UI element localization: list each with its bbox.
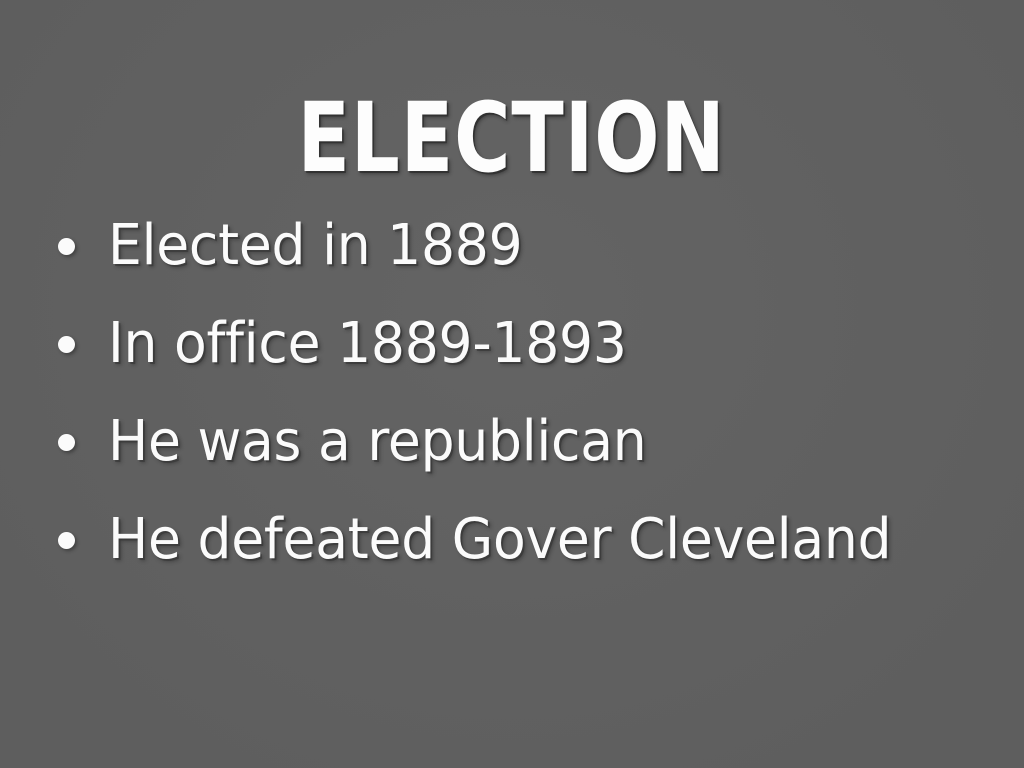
bullet-list: Elected in 1889 In office 1889-1893 He w… — [48, 197, 1008, 589]
list-item-label: He defeated Gover Cleveland — [108, 511, 968, 569]
list-item-label: In office 1889-1893 — [108, 315, 968, 373]
bullet-dot-icon — [58, 238, 75, 255]
presentation-slide: ELECTION Elected in 1889 In office 1889-… — [0, 0, 1024, 768]
bullet-dot-icon — [58, 532, 75, 549]
page-title: ELECTION — [298, 90, 726, 186]
list-item-label: He was a republican — [108, 413, 968, 471]
list-item: He defeated Gover Cleveland — [48, 491, 1008, 589]
list-item: In office 1889-1893 — [48, 295, 1008, 393]
list-item: He was a republican — [48, 393, 1008, 491]
list-item: Elected in 1889 — [48, 197, 1008, 295]
bullet-dot-icon — [58, 336, 75, 353]
bullet-dot-icon — [58, 434, 75, 451]
list-item-label: Elected in 1889 — [108, 217, 968, 275]
